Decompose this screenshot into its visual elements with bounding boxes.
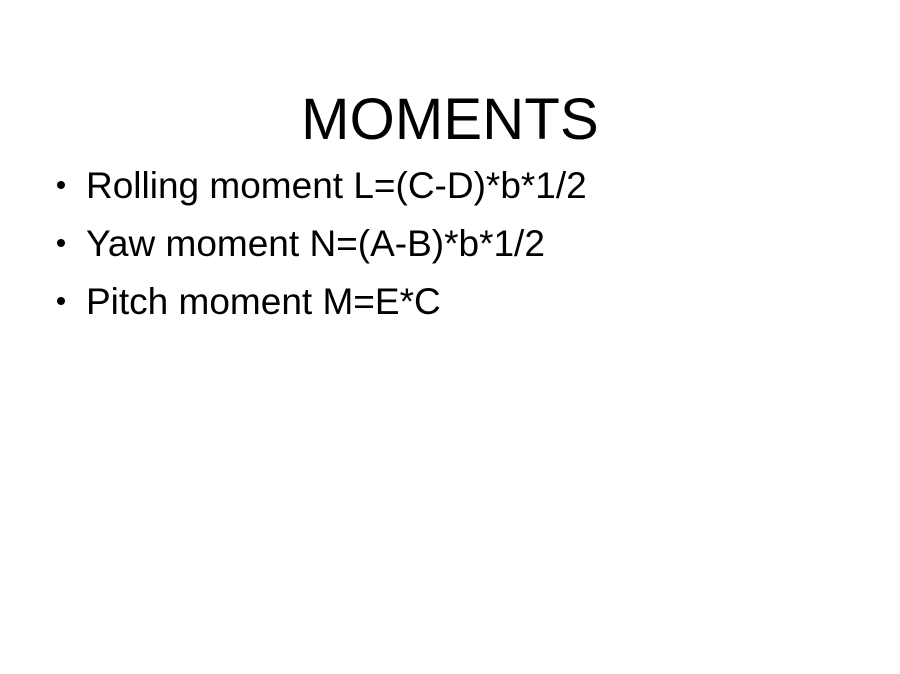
bullet-dot-icon [57,297,65,305]
slide-empty-content-area [0,340,900,674]
bullet-list: Rolling moment L=(C-D)*b*1/2 Yaw moment … [52,162,852,336]
bullet-dot-icon [57,239,65,247]
bullet-item-text: Pitch moment M=E*C [86,278,441,326]
slide-body: Rolling moment L=(C-D)*b*1/2 Yaw moment … [52,162,852,336]
presentation-slide: MOMENTS Rolling moment L=(C-D)*b*1/2 Yaw… [0,0,900,674]
bullet-item-text: Yaw moment N=(A-B)*b*1/2 [86,220,545,268]
bullet-dot-icon [57,181,65,189]
bullet-item-text: Rolling moment L=(C-D)*b*1/2 [86,162,587,210]
bullet-list-item: Pitch moment M=E*C [52,278,852,336]
bullet-list-item: Rolling moment L=(C-D)*b*1/2 [52,162,852,220]
slide-title: MOMENTS [0,85,900,155]
bullet-list-item: Yaw moment N=(A-B)*b*1/2 [52,220,852,278]
